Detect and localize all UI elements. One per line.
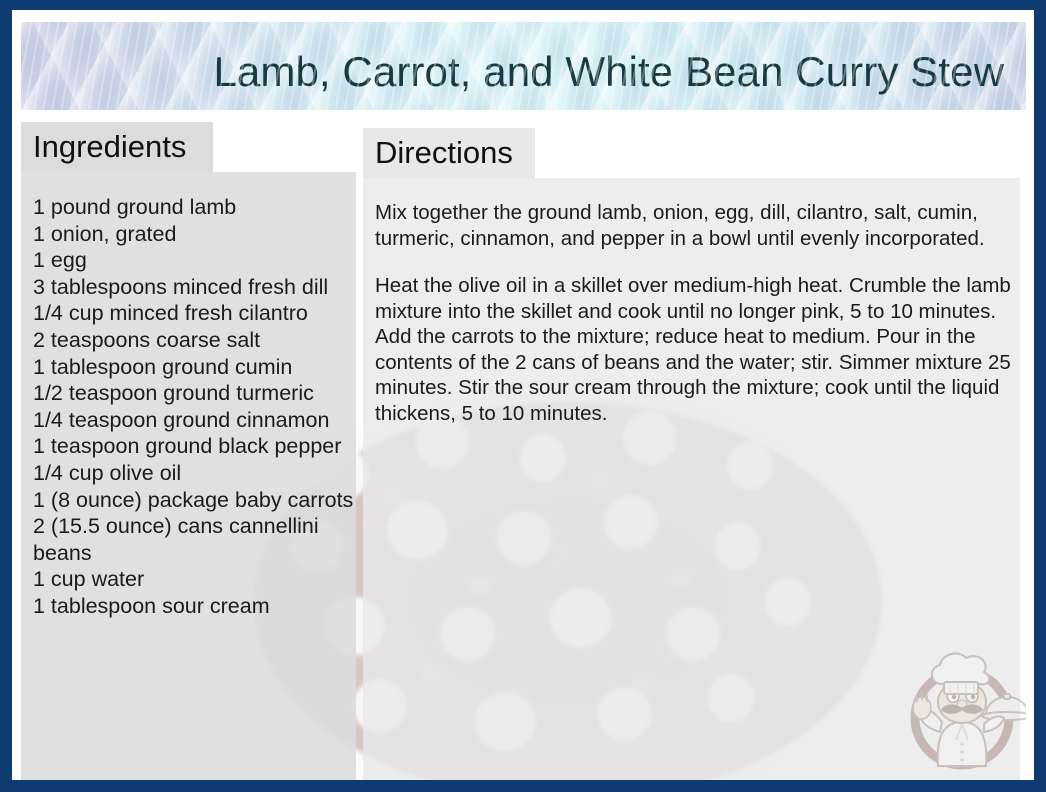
ingredients-list: 1 pound ground lamb1 onion, grated1 egg3… bbox=[21, 172, 356, 780]
ingredients-panel: Ingredients 1 pound ground lamb1 onion, … bbox=[21, 122, 356, 780]
ingredient-item: 2 (15.5 ounce) cans cannellini bbox=[33, 513, 348, 540]
direction-paragraph: Heat the olive oil in a skillet over med… bbox=[375, 273, 1012, 426]
recipe-page: Lamb, Carrot, and White Bean Curry Stew … bbox=[12, 10, 1034, 780]
direction-paragraph: Mix together the ground lamb, onion, egg… bbox=[375, 200, 1012, 251]
ingredient-item: 1 pound ground lamb bbox=[33, 194, 348, 221]
ingredient-item: 1/2 teaspoon ground turmeric bbox=[33, 380, 348, 407]
ingredients-heading: Ingredients bbox=[21, 129, 186, 165]
ingredient-item: 1 teaspoon ground black pepper bbox=[33, 433, 348, 460]
directions-panel: Directions Mix together the ground lamb,… bbox=[363, 128, 1020, 780]
ingredient-item: 1/4 cup olive oil bbox=[33, 460, 348, 487]
directions-heading: Directions bbox=[363, 135, 513, 171]
ingredient-item: 3 tablespoons minced fresh dill bbox=[33, 274, 348, 301]
ingredient-item: 1 egg bbox=[33, 247, 348, 274]
ingredient-item: 1/4 cup minced fresh cilantro bbox=[33, 300, 348, 327]
ingredients-heading-tab: Ingredients bbox=[21, 122, 213, 172]
ingredient-item: 1 cup water bbox=[33, 566, 348, 593]
ingredient-item: 1 tablespoon ground cumin bbox=[33, 354, 348, 381]
ingredient-item: beans bbox=[33, 540, 348, 567]
ingredient-item: 1/4 teaspoon ground cinnamon bbox=[33, 407, 348, 434]
ingredient-item: 1 onion, grated bbox=[33, 221, 348, 248]
ingredient-item: 2 teaspoons coarse salt bbox=[33, 327, 348, 354]
page-title: Lamb, Carrot, and White Bean Curry Stew bbox=[213, 48, 1004, 96]
ingredient-item: 1 tablespoon sour cream bbox=[33, 593, 348, 620]
recipe-card: Lamb, Carrot, and White Bean Curry Stew … bbox=[0, 0, 1046, 792]
directions-text: Mix together the ground lamb, onion, egg… bbox=[363, 178, 1020, 780]
ingredient-item: 1 (8 ounce) package baby carrots bbox=[33, 487, 348, 514]
directions-heading-tab: Directions bbox=[363, 128, 535, 178]
title-banner: Lamb, Carrot, and White Bean Curry Stew bbox=[21, 22, 1026, 110]
